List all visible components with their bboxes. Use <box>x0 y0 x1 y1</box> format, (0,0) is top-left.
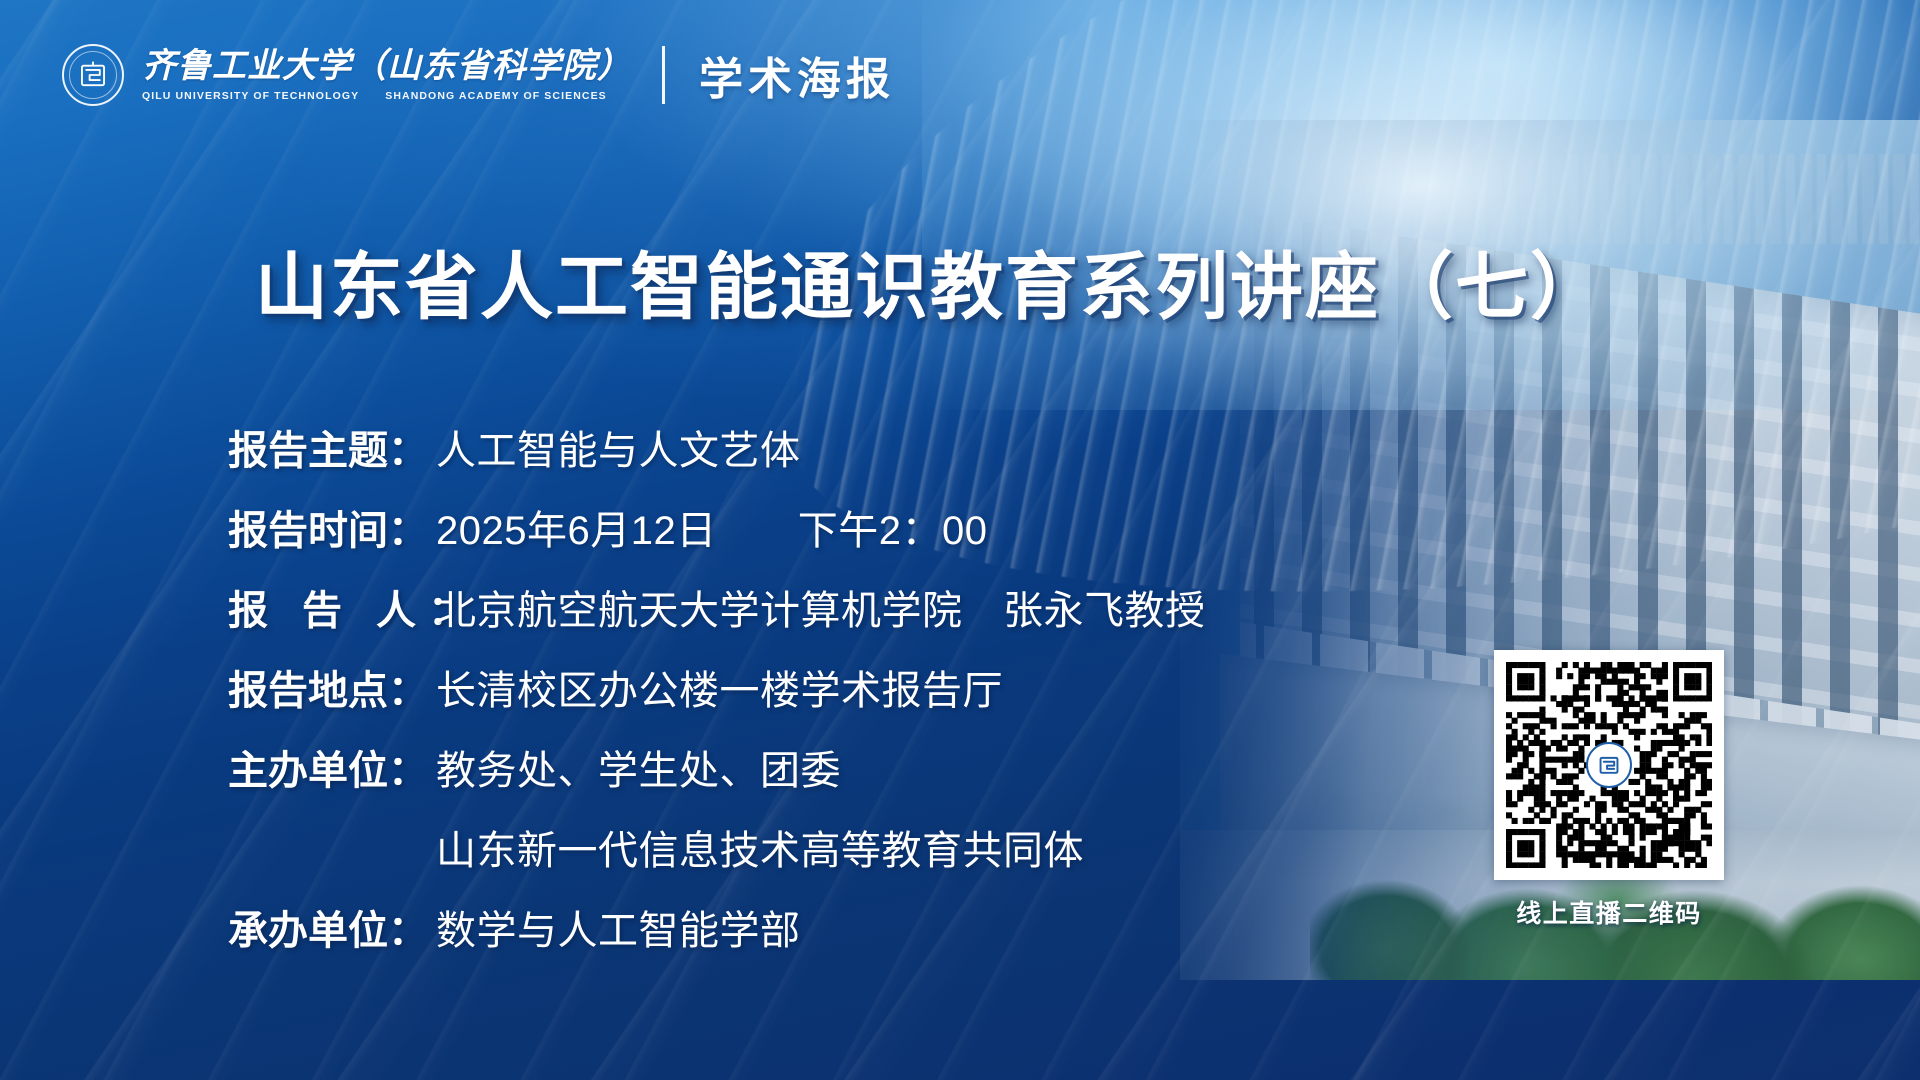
list-item: 报 告 人： 北京航空航天大学计算机学院 张永飞教授 <box>228 578 1206 636</box>
university-name-en: QILU UNIVERSITY OF TECHNOLOGY SHANDONG A… <box>142 90 632 102</box>
poster-header: 齐鲁工业大学（山东省科学院） QILU UNIVERSITY OF TECHNO… <box>0 0 1920 150</box>
detail-value: 2025年6月12日 下午2：00 <box>436 498 987 556</box>
page-title: 山东省人工智能通识教育系列讲座（七） <box>0 228 1860 334</box>
detail-label: 报 告 人： <box>228 578 436 636</box>
university-name-en-right: SHANDONG ACADEMY OF SCIENCES <box>385 90 607 102</box>
detail-value: 长清校区办公楼一楼学术报告厅 <box>436 658 1003 716</box>
list-item: 报告时间： 2025年6月12日 下午2：00 <box>228 498 1206 556</box>
list-item: 承办单位： 数学与人工智能学部 <box>228 898 1206 956</box>
livestream-qr-block: 线上直播二维码 <box>1494 650 1724 930</box>
qr-caption: 线上直播二维码 <box>1516 894 1702 930</box>
detail-label: 承办单位： <box>228 898 436 956</box>
university-name-cn: 齐鲁工业大学（山东省科学院） <box>142 48 632 86</box>
list-item: 报告主题： 人工智能与人文艺体 <box>228 418 1206 476</box>
detail-value: 人工智能与人文艺体 <box>436 418 801 476</box>
detail-label: 报告主题： <box>228 418 436 476</box>
university-name-en-left: QILU UNIVERSITY OF TECHNOLOGY <box>142 90 359 102</box>
poster-type-label: 学术海报 <box>699 43 895 107</box>
list-item: 主办单位： 山东新一代信息技术高等教育共同体 <box>228 818 1206 876</box>
list-item: 报告地点： 长清校区办公楼一楼学术报告厅 <box>228 658 1206 716</box>
detail-label: 报告地点： <box>228 658 436 716</box>
qilu-university-emblem-icon <box>1586 742 1632 788</box>
lecture-details-list: 报告主题： 人工智能与人文艺体 报告时间： 2025年6月12日 下午2：00 … <box>228 418 1206 956</box>
detail-value: 数学与人工智能学部 <box>436 898 801 956</box>
list-item: 主办单位： 教务处、学生处、团委 <box>228 738 1206 796</box>
qilu-university-emblem-icon <box>62 44 124 106</box>
detail-value: 山东新一代信息技术高等教育共同体 <box>436 818 1084 876</box>
qr-code-icon[interactable] <box>1494 650 1724 880</box>
detail-label: 主办单位： <box>228 738 436 796</box>
academic-poster: 齐鲁工业大学（山东省科学院） QILU UNIVERSITY OF TECHNO… <box>0 0 1920 1080</box>
university-wordmark: 齐鲁工业大学（山东省科学院） QILU UNIVERSITY OF TECHNO… <box>142 48 632 101</box>
detail-value: 北京航空航天大学计算机学院 张永飞教授 <box>436 578 1206 636</box>
detail-label: 报告时间： <box>228 498 436 556</box>
header-divider <box>662 46 665 104</box>
detail-value: 教务处、学生处、团委 <box>436 738 841 796</box>
